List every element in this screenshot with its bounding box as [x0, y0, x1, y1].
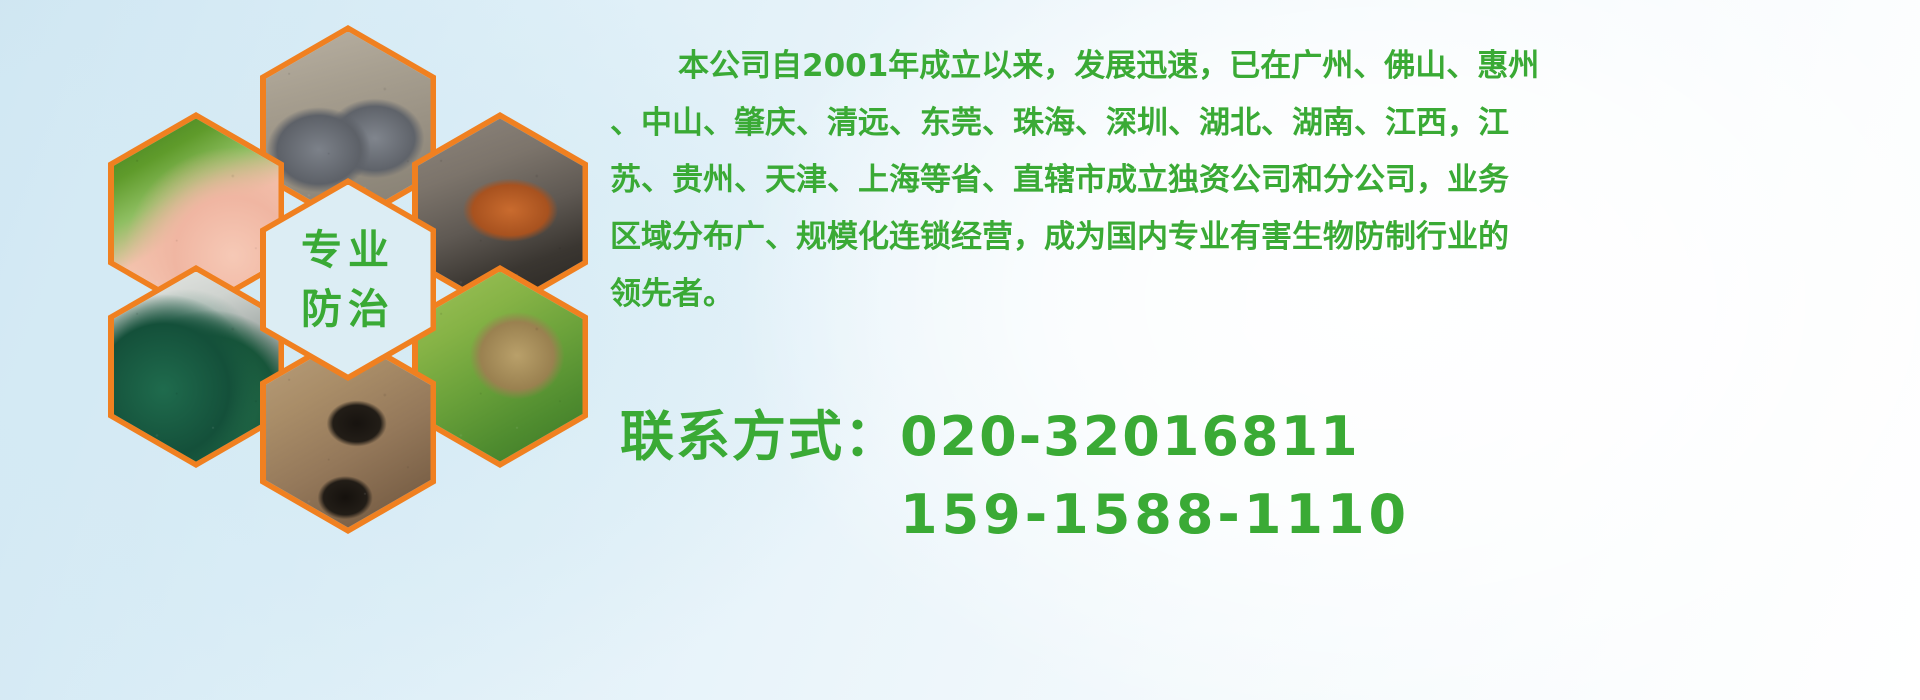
- description-line-3: 苏、贵州、天津、上海等省、直辖市成立独资公司和分公司，业务: [610, 152, 1920, 209]
- texture-overlay: [418, 272, 583, 462]
- slogan-line-1: 专业: [301, 221, 395, 279]
- company-description: 本公司自2001年成立以来，发展迅速，已在广州、佛山、惠州 、中山、肇庆、清远、…: [610, 38, 1920, 323]
- content-column: 本公司自2001年成立以来，发展迅速，已在广州、佛山、惠州 、中山、肇庆、清远、…: [600, 0, 1920, 700]
- slogan-text: 专业 防治: [266, 185, 431, 375]
- hex-cell-flies[interactable]: [108, 265, 284, 468]
- description-line-5: 领先者。: [610, 266, 1920, 323]
- description-line-1: 本公司自2001年成立以来，发展迅速，已在广州、佛山、惠州: [610, 38, 1920, 95]
- texture-overlay: [114, 272, 279, 462]
- hex-cell-slogan: 专业 防治: [260, 178, 436, 381]
- contact-phone-landline[interactable]: 联系方式：020-32016811: [620, 398, 1920, 476]
- contact-phone-mobile[interactable]: 159-1588-1110: [620, 476, 1920, 554]
- description-line-4: 区域分布广、规模化连锁经营，成为国内专业有害生物防制行业的: [610, 209, 1920, 266]
- slogan-line-2: 防治: [301, 280, 395, 338]
- description-line-2: 、中山、肇庆、清远、东莞、珠海、深圳、湖北、湖南、江西，江: [610, 95, 1920, 152]
- hex-inner: [114, 272, 279, 462]
- hex-inner: 专业 防治: [266, 185, 431, 375]
- contact-block: 联系方式：020-32016811 159-1588-1110: [620, 398, 1920, 554]
- banner-stage: 专业 防治 本公司自2001年成立以来，发展迅速，已在广州、佛山、惠州 、中山、…: [0, 0, 1920, 700]
- hex-cell-stink-bug[interactable]: [412, 265, 588, 468]
- hex-inner: [418, 272, 583, 462]
- honeycomb-gallery: 专业 防治: [90, 0, 610, 580]
